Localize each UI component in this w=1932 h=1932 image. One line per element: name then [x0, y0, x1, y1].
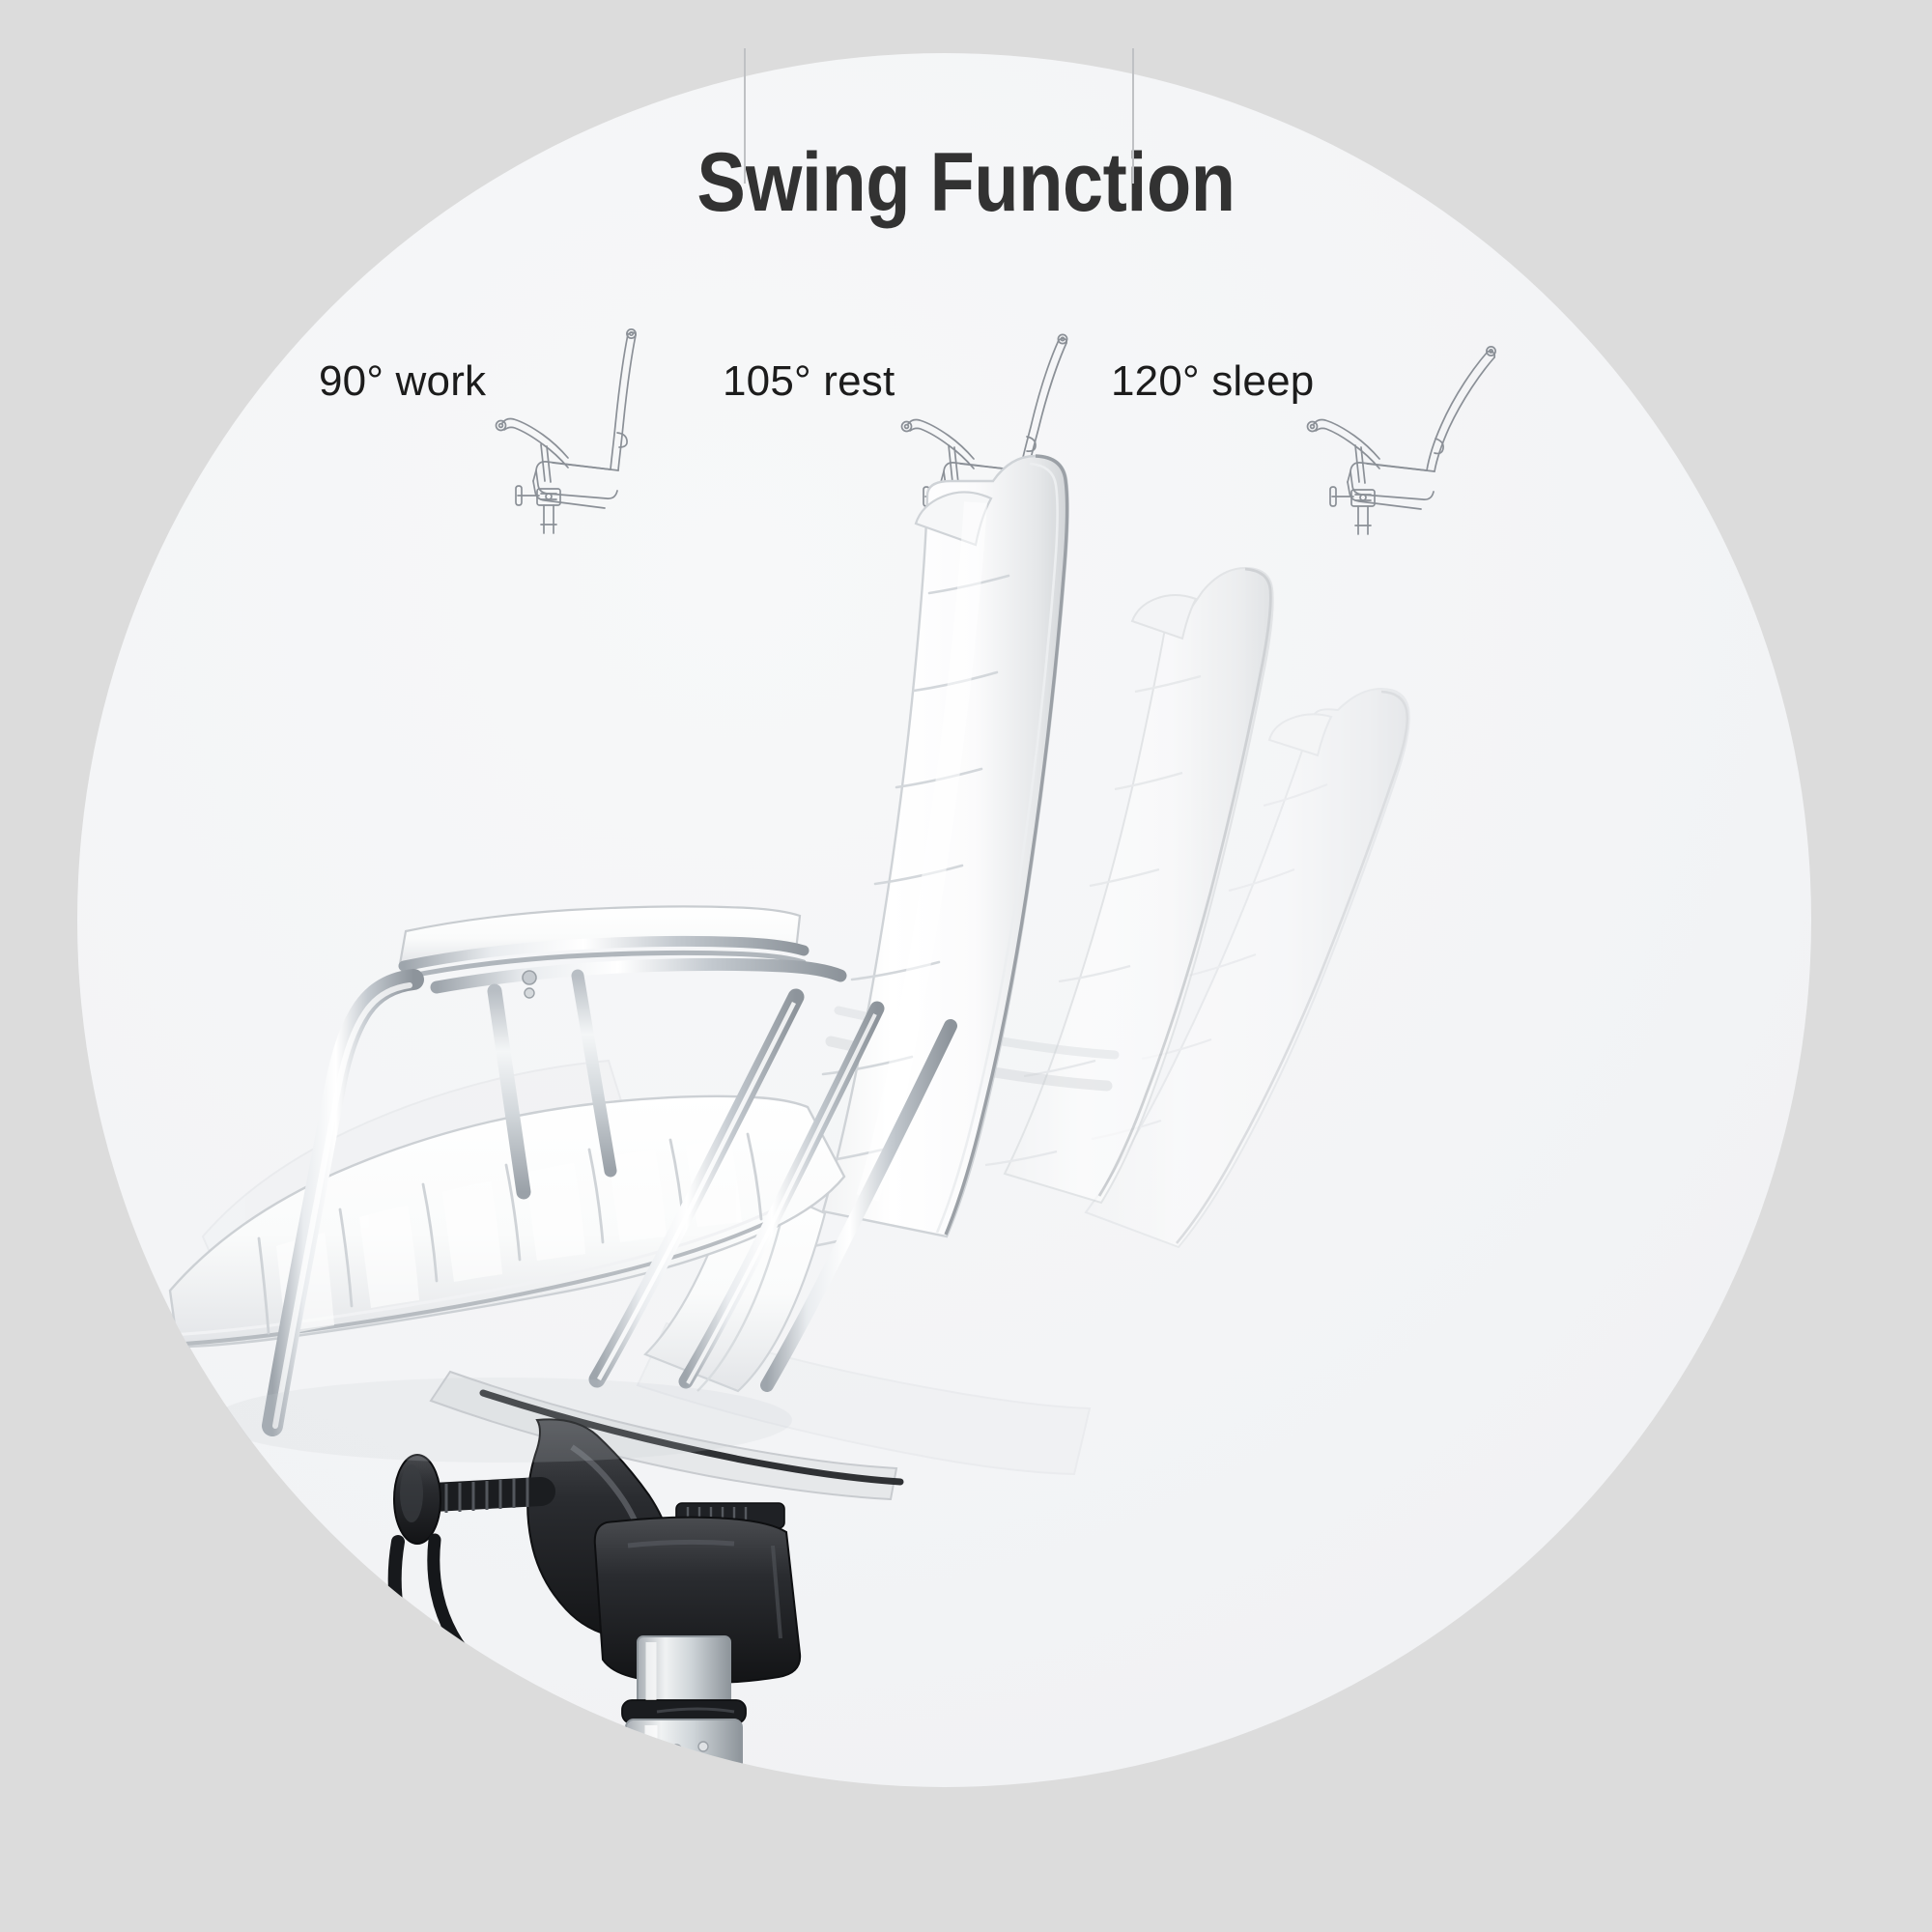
product-feature-graphic: Swing Function 90° work: [0, 0, 1932, 1932]
chair-recline-90-icon: [483, 319, 705, 541]
recline-option-label: 120° sleep: [1111, 357, 1314, 406]
angle-divider: [744, 48, 746, 184]
chair-recline-120-icon: [1294, 319, 1517, 541]
recline-option-sleep[interactable]: 120° sleep: [1092, 328, 1478, 551]
recline-option-work[interactable]: 90° work: [319, 328, 705, 551]
recline-angle-row: 90° work: [319, 328, 1575, 551]
chair-recline-105-icon: [889, 319, 1111, 541]
recline-option-label: 105° rest: [723, 357, 895, 406]
recline-option-label: 90° work: [319, 357, 486, 406]
background-circle: [77, 53, 1811, 1787]
page-title: Swing Function: [116, 135, 1816, 231]
recline-option-rest[interactable]: 105° rest: [705, 328, 1092, 551]
angle-divider: [1132, 48, 1134, 184]
